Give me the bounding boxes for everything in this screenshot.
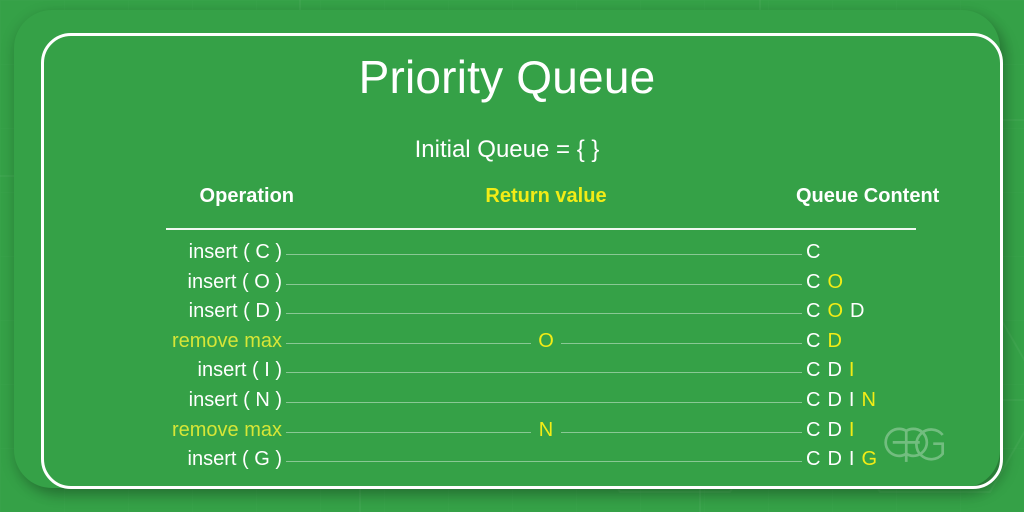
queue-content-cell: CO <box>802 271 924 294</box>
operation-cell: insert ( O ) <box>154 271 282 294</box>
queue-item: N <box>861 389 875 411</box>
table-row: insert ( G )CDIG <box>154 445 924 475</box>
queue-item: C <box>806 359 820 381</box>
queue-content-cell: CDI <box>802 359 924 382</box>
queue-item: C <box>806 389 820 411</box>
table-body: insert ( C )Cinsert ( O )COinsert ( D )C… <box>154 238 924 475</box>
operation-cell: insert ( I ) <box>154 359 282 382</box>
queue-item: C <box>806 419 820 441</box>
queue-item: I <box>849 389 855 411</box>
queue-item: C <box>806 448 820 470</box>
queue-content-cell: CDI <box>802 419 924 442</box>
row-connector-line <box>286 372 802 373</box>
queue-item: I <box>849 448 855 470</box>
operation-cell: insert ( N ) <box>154 389 282 412</box>
queue-item: D <box>827 448 841 470</box>
table-row: insert ( D )COD <box>154 297 924 327</box>
table-row: insert ( C )C <box>154 238 924 268</box>
queue-item: I <box>849 419 855 441</box>
queue-item: C <box>806 300 820 322</box>
table-row: remove maxOCD <box>154 327 924 357</box>
queue-item: G <box>861 448 877 470</box>
queue-item: D <box>827 359 841 381</box>
queue-content-cell: CDIN <box>802 389 924 412</box>
queue-item: C <box>806 330 820 352</box>
row-connector-line <box>286 254 802 255</box>
initial-queue-label: Initial Queue = { } <box>14 136 1000 164</box>
operation-cell: insert ( C ) <box>154 241 282 264</box>
queue-content-cell: CDIG <box>802 448 924 471</box>
table-row: remove maxNCDI <box>154 416 924 446</box>
queue-item: O <box>827 300 843 322</box>
table-header-row: Operation Return value Queue Content <box>154 182 924 218</box>
queue-item: D <box>850 300 864 322</box>
queue-item: I <box>849 359 855 381</box>
queue-content-cell: CD <box>802 330 924 353</box>
operations-table: Operation Return value Queue Content ins… <box>154 182 924 472</box>
queue-item: C <box>806 271 820 293</box>
operation-cell: insert ( D ) <box>154 300 282 323</box>
row-connector-line <box>286 313 802 314</box>
queue-item: D <box>827 330 841 352</box>
queue-item: D <box>827 389 841 411</box>
queue-content-cell: C <box>802 241 924 264</box>
table-row: insert ( O )CO <box>154 268 924 298</box>
row-connector-line <box>286 461 802 462</box>
operation-cell: insert ( G ) <box>154 448 282 471</box>
slide-card: Priority Queue Initial Queue = { } Opera… <box>14 10 1000 488</box>
queue-item: C <box>806 241 820 263</box>
queue-item: O <box>827 271 843 293</box>
column-header-queue-content: Queue Content <box>792 185 914 208</box>
illustration-canvas: Priority Queue Initial Queue = { } Opera… <box>0 0 1024 512</box>
row-connector-line <box>286 402 802 403</box>
queue-item: D <box>827 419 841 441</box>
row-connector-line <box>286 284 802 285</box>
table-row: insert ( I )CDI <box>154 356 924 386</box>
page-title: Priority Queue <box>14 52 1000 103</box>
queue-content-cell: COD <box>802 300 924 323</box>
table-row: insert ( N )CDIN <box>154 386 924 416</box>
header-divider <box>166 228 916 230</box>
